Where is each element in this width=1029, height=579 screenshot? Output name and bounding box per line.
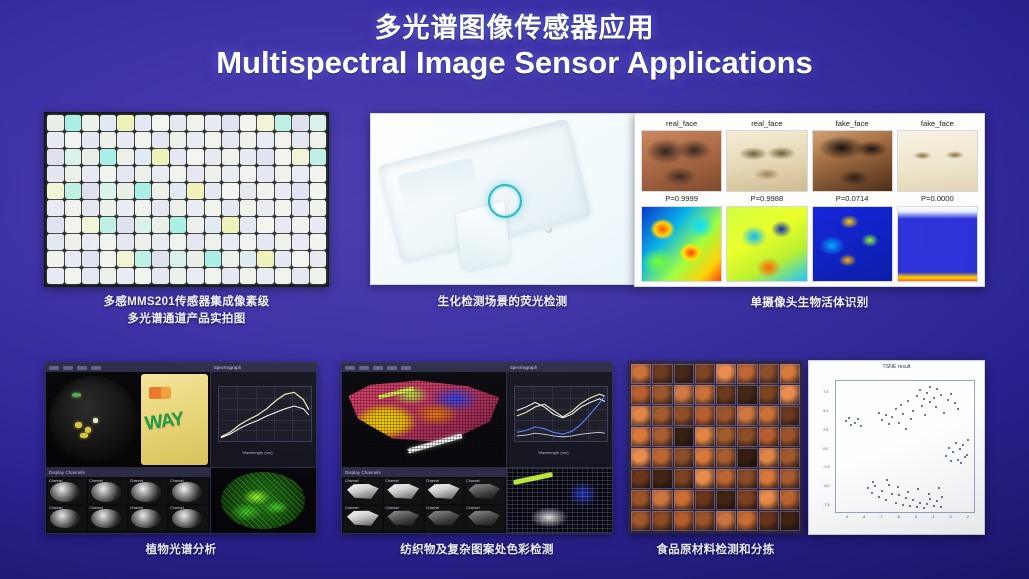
cfa-pixel [170, 183, 187, 199]
x-tick-label: -8 [862, 515, 865, 519]
scatter-point [943, 412, 945, 414]
cfa-pixel [187, 132, 204, 148]
cfa-pixel [310, 132, 327, 148]
caption-line-1: 单摄像头生物活体识别 [604, 295, 1015, 312]
scatter-point [878, 496, 880, 498]
panel-fluorescence[interactable]: 生化检测场景的荧光检测 [370, 113, 635, 285]
cfa-pixel [205, 234, 222, 250]
food-sample-cell [631, 427, 651, 447]
cfa-pixel [100, 149, 117, 165]
channel-thumb[interactable]: Channel [425, 479, 463, 504]
cfa-pixel [275, 234, 292, 250]
cfa-pixel [187, 115, 204, 131]
scatter-point [940, 506, 942, 508]
title-english: Multispectral Image Sensor Applications [0, 47, 1029, 80]
cfa-pixel [292, 149, 309, 165]
scatter-point [929, 386, 931, 388]
scatter-point [907, 400, 909, 402]
cfa-pixel [117, 166, 134, 182]
textile-spectragraph-chart[interactable]: Spectragraph Wavelength (nm) [507, 363, 612, 468]
classification-disc [221, 472, 305, 529]
food-sample-cell [716, 490, 736, 510]
channel-thumb[interactable]: Channel [344, 506, 382, 531]
fluorescent-ring-icon [488, 184, 522, 218]
cfa-pixel [205, 166, 222, 182]
cfa-pixel [222, 132, 239, 148]
cfa-pixel [257, 251, 274, 267]
scatter-point [891, 416, 893, 418]
scatter-point [885, 499, 887, 501]
cfa-pixel [257, 268, 274, 284]
cfa-pixel [275, 200, 292, 216]
scatter-point [874, 485, 876, 487]
cfa-pixel [65, 251, 82, 267]
face-heatmap [641, 206, 722, 282]
face-grid: real_face P=0.9999 real_face P=0.9988 fa… [635, 114, 984, 286]
cfa-pixel [310, 166, 327, 182]
cfa-pixel [47, 183, 64, 199]
food-sample-cell [631, 364, 651, 384]
cfa-pixel [310, 115, 327, 131]
food-sample-cell [759, 490, 779, 510]
scatter-point [919, 389, 921, 391]
panel-face-liveness[interactable]: real_face P=0.9999 real_face P=0.9988 fa… [634, 113, 985, 287]
face-probability: P=0.9999 [641, 192, 722, 206]
food-sample-cell [652, 364, 672, 384]
cfa-pixel [257, 132, 274, 148]
cfa-pixel [205, 132, 222, 148]
caption-line-2: 多光谱通道产品实拍图 [14, 311, 359, 328]
thumbs-title: Display Channels [345, 470, 381, 475]
scatter-point [967, 439, 969, 441]
cfa-pixel [187, 200, 204, 216]
cfa-pixel [310, 183, 327, 199]
scatter-point [924, 414, 926, 416]
scatter-point [895, 502, 897, 504]
caption-face-liveness: 单摄像头生物活体识别 [604, 295, 1015, 312]
cfa-pixel [292, 166, 309, 182]
scatter-point [941, 496, 943, 498]
cfa-pixel [82, 149, 99, 165]
classification-image [507, 468, 612, 533]
cfa-pixel [47, 217, 64, 233]
cfa-pixel [170, 217, 187, 233]
food-sample-cell [652, 427, 672, 447]
channel-thumb[interactable]: Channel [465, 506, 503, 531]
scatter-point [900, 404, 902, 406]
cfa-pixel [240, 234, 257, 250]
scatter-point [929, 498, 931, 500]
food-sample-cell [631, 448, 651, 468]
channel-thumb[interactable]: Channel [48, 506, 86, 531]
cfa-pixel [100, 132, 117, 148]
cfa-pixel [205, 149, 222, 165]
cfa-pixel [170, 234, 187, 250]
food-sample-cell [737, 511, 757, 531]
cfa-pixel [240, 200, 257, 216]
cfa-pixel [65, 200, 82, 216]
cfa-pixel [170, 115, 187, 131]
plant-classification-map [211, 468, 316, 533]
food-sample-cell [716, 385, 736, 405]
scatter-point [898, 422, 900, 424]
food-sample-cell [674, 448, 694, 468]
scatter-point [948, 447, 950, 449]
scatter-point [898, 494, 900, 496]
x-tick-label: -5 [914, 515, 917, 519]
scatter-point [872, 481, 874, 483]
cfa-pixel [222, 149, 239, 165]
chart-toolbar[interactable]: Spectragraph [211, 363, 316, 372]
cfa-pixel [222, 183, 239, 199]
scatter-point [959, 448, 961, 450]
textile-software-screenshot: Spectragraph Wavelength (nm) [341, 362, 613, 534]
cfa-pixel [82, 217, 99, 233]
food-sample-cell [780, 511, 800, 531]
cfa-pixel [310, 268, 327, 284]
cfa-pixel [187, 217, 204, 233]
textile-camera-view [342, 363, 507, 468]
food-sample-cell [737, 448, 757, 468]
scatter-point [916, 395, 918, 397]
food-sample-cell [652, 406, 672, 426]
panel-food-sorting[interactable]: 食品原材料检测和分拣 [628, 361, 803, 534]
channel-thumb[interactable]: Channel [425, 506, 463, 531]
scatter-point [905, 497, 907, 499]
scatter-point [945, 455, 947, 457]
cfa-pixel [240, 115, 257, 131]
scatter-point [888, 484, 890, 486]
food-sample-cell [695, 427, 715, 447]
cfa-pixel [222, 251, 239, 267]
x-tick-label: -2 [966, 515, 969, 519]
scatter-point [962, 444, 964, 446]
food-sample-cell [759, 469, 779, 489]
plant-scene: WAY [46, 372, 210, 467]
cfa-pixel [82, 251, 99, 267]
face-thumbnail [897, 130, 978, 192]
y-tick-label: 2.5 [823, 428, 828, 432]
cfa-pixel [117, 149, 134, 165]
cassette-screw [545, 226, 552, 233]
cfa-pixel [100, 200, 117, 216]
cfa-pixel [187, 268, 204, 284]
chart-toolbar-title: Spectragraph [510, 365, 538, 370]
cfa-pixel [117, 268, 134, 284]
scatter-point [938, 487, 940, 489]
face-heatmap [726, 206, 807, 282]
cfa-pixel [100, 234, 117, 250]
food-sample-cell [695, 385, 715, 405]
face-probability: P=0.9988 [726, 192, 807, 206]
food-sample-cell [737, 364, 757, 384]
cfa-pixel [170, 132, 187, 148]
scatter-point [885, 414, 887, 416]
textile-channel-thumbnails[interactable]: Display Channels Channel Channel Channel… [342, 468, 507, 533]
textile-pattern [345, 378, 502, 449]
scatter-point [960, 462, 962, 464]
y-tick-label: 5.0 [823, 409, 828, 413]
cfa-pixel [100, 115, 117, 131]
cfa-pixel [100, 217, 117, 233]
food-sample-cell [695, 406, 715, 426]
cfa-pixel [292, 115, 309, 131]
y-tick-label: -5.0 [823, 484, 829, 488]
face-label: fake_face [812, 118, 893, 130]
cfa-pixel [170, 200, 187, 216]
y-tick-label: -7.5 [823, 503, 829, 507]
cfa-pixel [222, 234, 239, 250]
cfa-pixel [65, 217, 82, 233]
cfa-pixel [292, 132, 309, 148]
cfa-pixel [257, 149, 274, 165]
cfa-pixel [82, 132, 99, 148]
x-tick-label: -4 [931, 515, 934, 519]
cfa-pixel [310, 251, 327, 267]
scatter-point [936, 500, 938, 502]
scatter-point [867, 487, 869, 489]
face-heatmap [812, 206, 893, 282]
food-sample-cell [631, 490, 651, 510]
chart-plot-area [514, 386, 608, 442]
cfa-pixel [257, 217, 274, 233]
cfa-pixel [117, 234, 134, 250]
face-label: real_face [726, 118, 807, 130]
face-thumbnail [726, 130, 807, 192]
x-tick-label: -3 [948, 515, 951, 519]
cfa-pixel [135, 251, 152, 267]
cfa-pixel [47, 115, 64, 131]
cfa-pixel [240, 268, 257, 284]
cfa-pixel [275, 251, 292, 267]
food-sample-cell [674, 427, 694, 447]
scatter-point [929, 401, 931, 403]
cfa-pixel [65, 234, 82, 250]
food-sample-cell [631, 406, 651, 426]
cfa-pixel [222, 200, 239, 216]
cfa-pixel [82, 268, 99, 284]
cfa-pixel [275, 115, 292, 131]
scatter-point [952, 451, 954, 453]
food-sample-cell [780, 427, 800, 447]
plant-spectragraph-chart[interactable]: Spectragraph Wavelength (nm) [211, 363, 316, 468]
food-sample-cell [716, 448, 736, 468]
channel-thumb[interactable]: Channel [465, 479, 503, 504]
cfa-pixel [257, 115, 274, 131]
face-cell: real_face P=0.9999 [641, 118, 722, 282]
channel-thumb[interactable]: Channel [384, 479, 422, 504]
cfa-pixel [65, 166, 82, 182]
cfa-pixel [275, 149, 292, 165]
face-label: fake_face [897, 118, 978, 130]
caption-line-1: 多感MMS201传感器集成像素级 [14, 294, 359, 311]
cfa-pixel [47, 166, 64, 182]
cfa-pixel [222, 217, 239, 233]
chart-plot-area [218, 386, 312, 442]
scatter-point [957, 408, 959, 410]
scatter-point [919, 502, 921, 504]
channel-thumb[interactable]: Channel [48, 479, 86, 504]
face-cell: real_face P=0.9988 [726, 118, 807, 282]
cfa-pixel [187, 251, 204, 267]
cfa-pixel [240, 251, 257, 267]
thumbnail-grid: Channel Channel Channel Channel Channel … [342, 477, 506, 533]
food-sample-cell [780, 490, 800, 510]
channel-thumb[interactable]: Channel [344, 479, 382, 504]
cfa-pixel-grid [44, 112, 329, 287]
cfa-pixel [135, 268, 152, 284]
scatter-point [950, 393, 952, 395]
cfa-pixel [205, 115, 222, 131]
cfa-pixel [292, 234, 309, 250]
panel-cfa-sensor[interactable]: 多感MMS201传感器集成像素级 多光谱通道产品实拍图 [44, 112, 329, 287]
food-sample-cell [674, 511, 694, 531]
cfa-pixel [100, 183, 117, 199]
x-tick-label: -6 [897, 515, 900, 519]
thumbs-toolbar: Display Channels [46, 468, 210, 477]
cfa-pixel [275, 217, 292, 233]
scatter-point [878, 412, 880, 414]
scatter-point [881, 419, 883, 421]
panel-tsne-scatter[interactable]: TSNE result -9-8-7-6-5-4-3-27.55.02.50.0… [808, 360, 985, 535]
camera-toolbar[interactable] [46, 363, 210, 372]
face-cell: fake_face P=0.0000 [897, 118, 978, 282]
food-sample-cell [631, 469, 651, 489]
camera-toolbar[interactable] [342, 363, 506, 372]
cfa-pixel [135, 183, 152, 199]
title-chinese: 多光谱图像传感器应用 [0, 14, 1029, 43]
cfa-pixel [47, 268, 64, 284]
scatter-point [957, 459, 959, 461]
cfa-pixel [240, 132, 257, 148]
cfa-pixel [205, 200, 222, 216]
cfa-pixel [240, 217, 257, 233]
scatter-point [907, 491, 909, 493]
food-sample-cell [674, 385, 694, 405]
cfa-pixel [82, 234, 99, 250]
food-sample-cell [695, 448, 715, 468]
cfa-pixel [100, 166, 117, 182]
plant-software-screenshot: WAY Spectragraph Wav [45, 362, 317, 534]
food-sample-grid-photo [628, 361, 803, 534]
cfa-pixel [205, 183, 222, 199]
scatter-point [916, 506, 918, 508]
scatter-point [888, 423, 890, 425]
cfa-pixel [205, 268, 222, 284]
scatter-point [891, 493, 893, 495]
caption-cfa-sensor: 多感MMS201传感器集成像素级 多光谱通道产品实拍图 [14, 294, 359, 329]
cfa-pixel [47, 251, 64, 267]
cfa-pixel [170, 251, 187, 267]
cfa-pixel [187, 166, 204, 182]
food-sample-cell [652, 490, 672, 510]
cfa-pixel [152, 200, 169, 216]
cfa-pixel [117, 183, 134, 199]
cfa-pixel [222, 115, 239, 131]
scatter-point [921, 405, 923, 407]
channel-thumb[interactable]: Channel [169, 479, 207, 504]
cfa-pixel [240, 166, 257, 182]
face-thumbnail [812, 130, 893, 192]
cfa-pixel [310, 200, 327, 216]
cfa-pixel [240, 183, 257, 199]
cfa-pixel [292, 217, 309, 233]
cfa-pixel [152, 251, 169, 267]
face-probability: P=0.0714 [812, 192, 893, 206]
cfa-pixel [117, 217, 134, 233]
scatter-point [926, 392, 928, 394]
face-label: real_face [641, 118, 722, 130]
cfa-pixel [205, 217, 222, 233]
cfa-pixel [222, 166, 239, 182]
chart-toolbar[interactable]: Spectragraph [507, 363, 612, 372]
food-sample-cell [716, 427, 736, 447]
food-sample-cell [695, 364, 715, 384]
cfa-pixel [47, 149, 64, 165]
panel-textile-color[interactable]: Spectragraph Wavelength (nm) [341, 362, 613, 534]
scatter-point [897, 486, 899, 488]
caption-plant-spectra: 植物光谱分析 [15, 542, 347, 559]
food-sample-cell [652, 448, 672, 468]
scatter-point [955, 442, 957, 444]
cfa-pixel [65, 268, 82, 284]
cfa-pixel [152, 217, 169, 233]
food-sample-cell [780, 385, 800, 405]
panel-plant-spectra[interactable]: WAY Spectragraph Wav [45, 362, 317, 534]
channel-thumb[interactable]: Channel [88, 479, 126, 504]
channel-thumb[interactable]: Channel [129, 506, 167, 531]
face-probability: P=0.0000 [897, 192, 978, 206]
plant-channel-thumbnails[interactable]: Display Channels Channel Channel Channel… [46, 468, 211, 533]
chart-xlabel: Wavelength (nm) [538, 450, 568, 455]
scatter-plot-area: -9-8-7-6-5-4-3-27.55.02.50.0-2.5-5.0-7.5 [835, 380, 975, 513]
cfa-pixel [65, 149, 82, 165]
channel-thumb[interactable]: Channel [384, 506, 422, 531]
channel-thumb[interactable]: Channel [129, 479, 167, 504]
food-sample-cell [695, 469, 715, 489]
face-cell: fake_face P=0.0714 [812, 118, 893, 282]
cfa-pixel [152, 268, 169, 284]
cfa-pixel [310, 217, 327, 233]
cfa-pixel [257, 183, 274, 199]
cfa-pixel [310, 149, 327, 165]
cfa-pixel [152, 115, 169, 131]
slide-title-block: 多光谱图像传感器应用 Multispectral Image Sensor Ap… [0, 14, 1029, 80]
thumbs-toolbar: Display Channels [342, 468, 506, 477]
spectral-curves [219, 387, 311, 441]
face-heatmap [897, 206, 978, 282]
food-sample-cell [674, 406, 694, 426]
plant-camera-view: WAY [46, 363, 211, 468]
channel-thumb[interactable]: Channel [169, 506, 207, 531]
cfa-pixel [47, 200, 64, 216]
food-sample-cell [631, 385, 651, 405]
cfa-pixel [292, 251, 309, 267]
food-sample-cell [716, 406, 736, 426]
cfa-pixel [152, 166, 169, 182]
scatter-point [860, 425, 862, 427]
scatter-point [923, 398, 925, 400]
package-text: WAY [144, 408, 185, 435]
x-tick-label: -9 [845, 515, 848, 519]
channel-thumb[interactable]: Channel [88, 506, 126, 531]
cfa-pixel [257, 200, 274, 216]
food-sample-cell [737, 406, 757, 426]
food-sample-cell [674, 364, 694, 384]
y-tick-label: -2.5 [823, 465, 829, 469]
cfa-pixel [257, 234, 274, 250]
textile-scene [342, 372, 506, 467]
